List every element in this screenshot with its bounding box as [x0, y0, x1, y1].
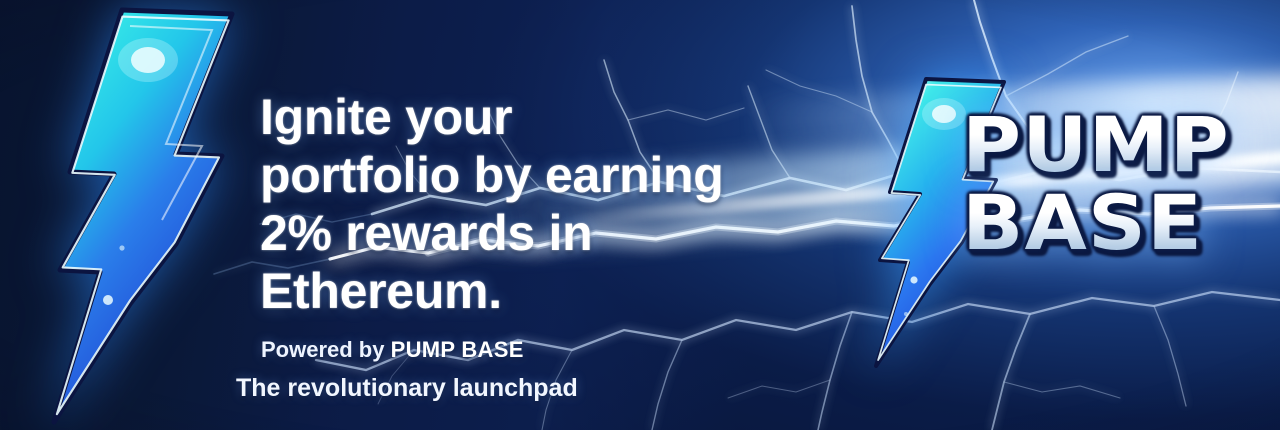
headline-line-2: portfolio by earning — [260, 146, 800, 204]
powered-by-prefix: Powered by — [261, 337, 391, 362]
banner-copy: Ignite your portfolio by earning 2% rewa… — [0, 0, 800, 430]
pump-base-logo: PUMP BASE — [962, 104, 1262, 304]
headline-line-4: Ethereum. — [260, 262, 800, 320]
powered-by-text: Powered by PUMP BASE — [261, 336, 524, 364]
tagline-text: The revolutionary launchpad — [236, 372, 578, 404]
powered-by-brand: PUMP BASE — [391, 337, 524, 362]
logo-line-base: BASE — [962, 182, 1280, 264]
headline-line-3: 2% rewards in — [260, 204, 800, 262]
page-title: Ignite your portfolio by earning 2% rewa… — [260, 88, 800, 320]
headline-line-1: Ignite your — [260, 88, 800, 146]
promo-banner[interactable]: Ignite your portfolio by earning 2% rewa… — [0, 0, 1280, 430]
logo-line-pump: PUMP — [962, 104, 1280, 186]
